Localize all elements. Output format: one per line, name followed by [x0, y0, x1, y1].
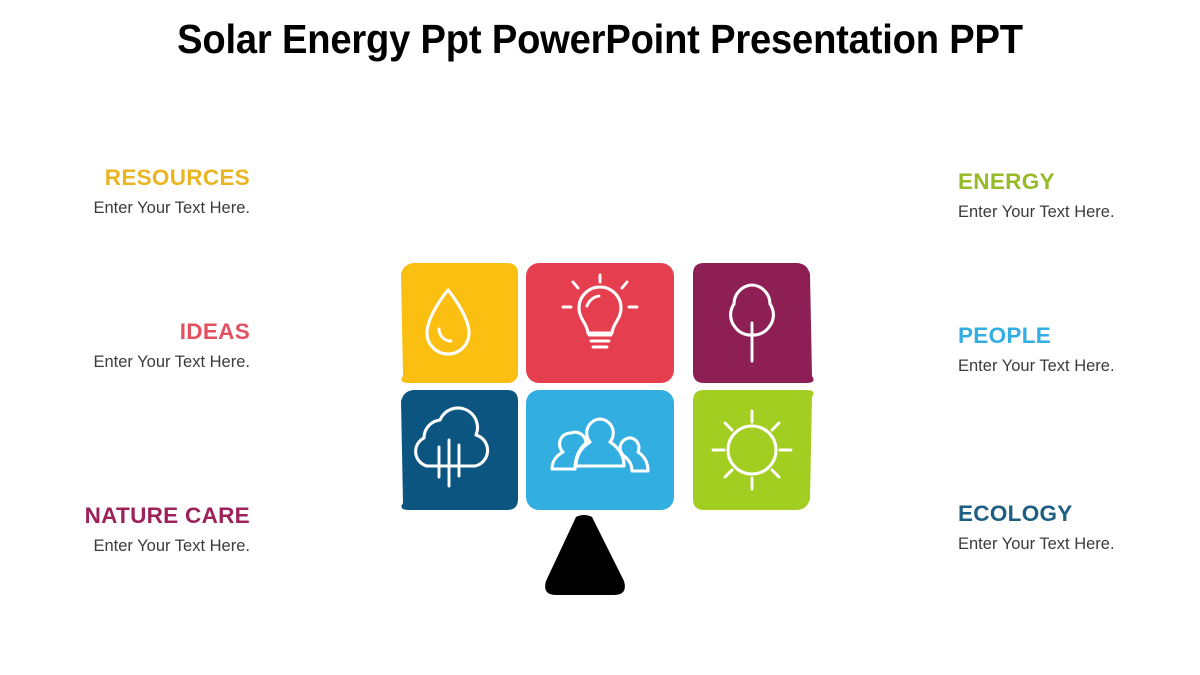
tile-people-shape — [526, 390, 674, 510]
tile-ecology[interactable] — [401, 390, 518, 510]
label-block-energy: ENERGY Enter Your Text Here. — [958, 170, 1198, 223]
label-body-resources: Enter Your Text Here. — [10, 197, 250, 220]
label-title-ideas: IDEAS — [10, 320, 250, 344]
tile-nature-care[interactable] — [693, 263, 814, 383]
label-body-people: Enter Your Text Here. — [958, 355, 1198, 378]
tile-people[interactable] — [526, 390, 674, 510]
tile-energy[interactable] — [693, 390, 814, 510]
tile-resources[interactable] — [401, 263, 518, 383]
page-title: Solar Energy Ppt PowerPoint Presentation… — [42, 16, 1158, 63]
label-block-ecology: ECOLOGY Enter Your Text Here. — [958, 502, 1198, 555]
label-block-ideas: IDEAS Enter Your Text Here. — [10, 320, 250, 373]
solar-panel-diagram — [335, 243, 880, 613]
label-block-nature-care: NATURE CARE Enter Your Text Here. — [10, 504, 250, 557]
label-block-resources: RESOURCES Enter Your Text Here. — [10, 166, 250, 219]
label-block-people: PEOPLE Enter Your Text Here. — [958, 324, 1198, 377]
tile-resources-shape — [401, 263, 518, 383]
label-body-ideas: Enter Your Text Here. — [10, 351, 250, 374]
label-title-energy: ENERGY — [958, 170, 1198, 194]
label-title-ecology: ECOLOGY — [958, 502, 1198, 526]
panel-stand — [545, 515, 625, 595]
tile-energy-shape — [693, 390, 814, 510]
label-body-nature-care: Enter Your Text Here. — [10, 535, 250, 558]
tile-ideas[interactable] — [526, 263, 674, 383]
label-title-people: PEOPLE — [958, 324, 1198, 348]
label-body-energy: Enter Your Text Here. — [958, 201, 1198, 224]
label-body-ecology: Enter Your Text Here. — [958, 533, 1198, 556]
label-title-resources: RESOURCES — [10, 166, 250, 190]
label-title-nature-care: NATURE CARE — [10, 504, 250, 528]
